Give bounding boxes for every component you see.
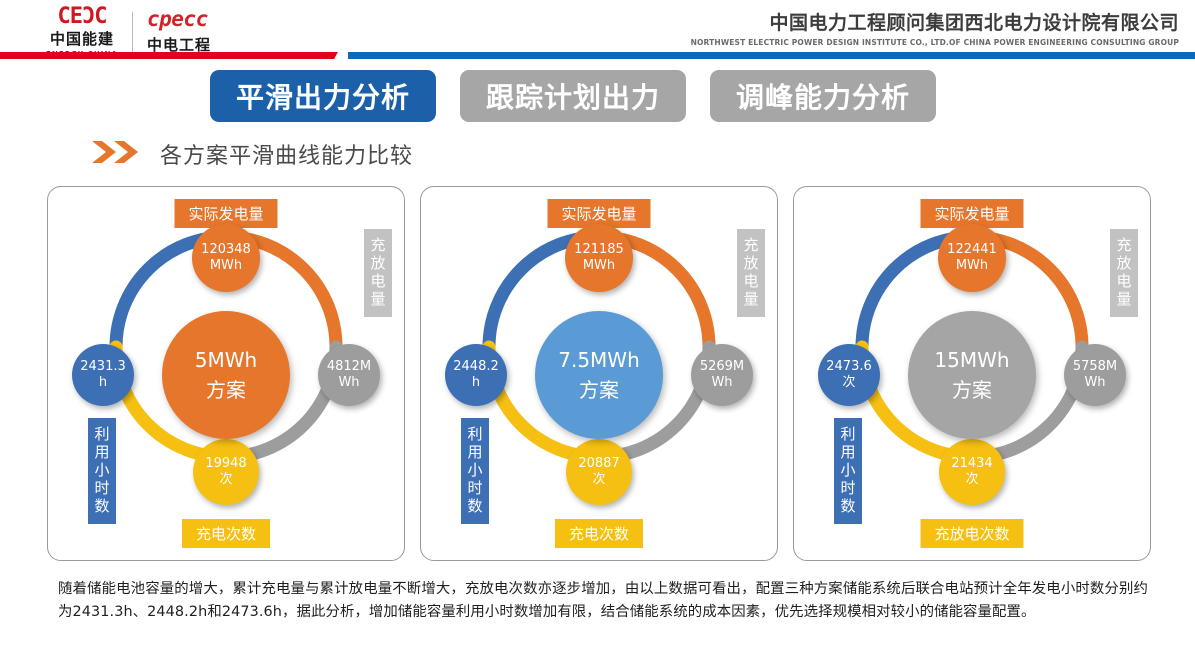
conclusion-text: 随着储能电池容量的增大，累计充电量与累计放电量不断增大，充放电次数亦逐步增加，由… [58, 578, 1148, 625]
node-charge-cycles: 19948 次 [193, 439, 259, 505]
cpecc-logo: cpecc 中电工程 [147, 9, 211, 55]
scheme-capacity: 5MWh [195, 345, 257, 375]
cycle-diagram: 实际发电量 充放电量 利用小时数 充放电次数 122441 MWh 2473.6… [794, 187, 1150, 560]
node-utilization-hours: 2448.2 h [445, 344, 507, 406]
node-charge-discharge-energy: 5758M Wh [1064, 344, 1126, 406]
node-value: 120348 [201, 242, 251, 258]
node-unit: Wh [338, 375, 359, 391]
node-value: 121185 [574, 242, 624, 258]
node-unit: Wh [711, 375, 732, 391]
company-name-cn: 中国电力工程顾问集团西北电力设计院有限公司 [691, 8, 1179, 35]
tab-bar: 平滑出力分析 跟踪计划出力 调峰能力分析 [210, 70, 936, 122]
section-heading: 各方案平滑曲线能力比较 [90, 138, 413, 170]
scheme-capacity: 15MWh [934, 345, 1009, 375]
energy-china-logo: CEƆC 中国能建 ENERGY CHINA [46, 6, 118, 58]
node-utilization-hours: 2473.6 次 [818, 344, 880, 406]
tab-tracking-planned-output[interactable]: 跟踪计划出力 [460, 70, 686, 122]
cpecc-logomark: cpecc [147, 9, 208, 30]
tab-peak-shaving-capability[interactable]: 调峰能力分析 [710, 70, 936, 122]
divider-blue-segment [348, 52, 1195, 59]
node-charge-cycles: 20887 次 [566, 439, 632, 505]
divider-red-segment [0, 52, 342, 59]
page-header: CEƆC 中国能建 ENERGY CHINA cpecc 中电工程 中国电力工程… [0, 0, 1195, 56]
node-utilization-hours: 2431.3 h [72, 344, 134, 406]
node-value: 4812M [327, 359, 371, 375]
node-value: 5758M [1073, 359, 1117, 375]
node-unit: 次 [965, 472, 978, 488]
scheme-card[interactable]: 实际发电量 充放电量 利用小时数 充放电次数 122441 MWh 2473.6… [793, 186, 1151, 561]
label-charge-discharge-energy: 充放电量 [1110, 229, 1138, 317]
logo-divider [132, 12, 133, 52]
label-utilization-hours: 利用小时数 [88, 418, 116, 524]
label-charge-discharge-energy: 充放电量 [737, 229, 765, 317]
node-actual-generation: 121185 MWh [565, 224, 633, 292]
node-value: 20887 [578, 456, 619, 472]
cycle-diagram: 实际发电量 充放电量 利用小时数 充电次数 120348 MWh 2431.3 … [48, 187, 404, 560]
node-value: 5269M [700, 359, 744, 375]
scheme-center-bubble: 5MWh 方案 [162, 311, 290, 439]
scheme-center-bubble: 7.5MWh 方案 [535, 311, 663, 439]
cycle-diagram: 实际发电量 充放电量 利用小时数 充电次数 121185 MWh 2448.2 … [421, 187, 777, 560]
scheme-suffix: 方案 [952, 375, 992, 405]
brand-logos: CEƆC 中国能建 ENERGY CHINA cpecc 中电工程 [46, 6, 211, 58]
scheme-card-list: 实际发电量 充放电量 利用小时数 充电次数 120348 MWh 2431.3 … [47, 186, 1151, 561]
node-unit: h [99, 375, 107, 391]
node-charge-discharge-energy: 5269M Wh [691, 344, 753, 406]
node-charge-discharge-energy: 4812M Wh [318, 344, 380, 406]
node-unit: Wh [1084, 375, 1105, 391]
node-unit: 次 [219, 472, 232, 488]
node-value: 2448.2 [453, 359, 499, 375]
node-value: 122441 [947, 242, 997, 258]
energy-china-name-cn: 中国能建 [50, 30, 114, 49]
node-unit: 次 [592, 472, 605, 488]
tab-smooth-output-analysis[interactable]: 平滑出力分析 [210, 70, 436, 122]
node-value: 21434 [951, 456, 992, 472]
label-utilization-hours: 利用小时数 [461, 418, 489, 524]
node-unit: h [472, 375, 480, 391]
double-chevron-right-icon [90, 139, 142, 169]
energy-china-logomark: CEƆC [58, 6, 107, 28]
scheme-capacity: 7.5MWh [558, 345, 640, 375]
label-charge-discharge-cycles: 充放电次数 [920, 519, 1023, 548]
node-charge-discharge-cycles: 21434 次 [939, 439, 1005, 505]
node-unit: MWh [583, 258, 615, 274]
scheme-center-bubble: 15MWh 方案 [908, 311, 1036, 439]
scheme-suffix: 方案 [579, 375, 619, 405]
label-utilization-hours: 利用小时数 [834, 418, 862, 524]
company-name-en: NORTHWEST ELECTRIC POWER DESIGN INSTITUT… [691, 38, 1179, 47]
header-divider [0, 52, 1195, 59]
node-actual-generation: 122441 MWh [938, 224, 1006, 292]
section-title-text: 各方案平滑曲线能力比较 [160, 138, 413, 170]
node-actual-generation: 120348 MWh [192, 224, 260, 292]
node-value: 2431.3 [80, 359, 126, 375]
node-unit: MWh [956, 258, 988, 274]
node-unit: 次 [842, 375, 855, 391]
label-charge-cycles: 充电次数 [555, 519, 643, 548]
node-value: 19948 [205, 456, 246, 472]
node-value: 2473.6 [826, 359, 872, 375]
label-charge-cycles: 充电次数 [182, 519, 270, 548]
company-title-block: 中国电力工程顾问集团西北电力设计院有限公司 NORTHWEST ELECTRIC… [691, 8, 1179, 47]
node-unit: MWh [210, 258, 242, 274]
scheme-card[interactable]: 实际发电量 充放电量 利用小时数 充电次数 120348 MWh 2431.3 … [47, 186, 405, 561]
conclusion-note: 随着储能电池容量的增大，累计充电量与累计放电量不断增大，充放电次数亦逐步增加，由… [58, 578, 1148, 625]
scheme-card[interactable]: 实际发电量 充放电量 利用小时数 充电次数 121185 MWh 2448.2 … [420, 186, 778, 561]
scheme-suffix: 方案 [206, 375, 246, 405]
label-charge-discharge-energy: 充放电量 [364, 229, 392, 317]
